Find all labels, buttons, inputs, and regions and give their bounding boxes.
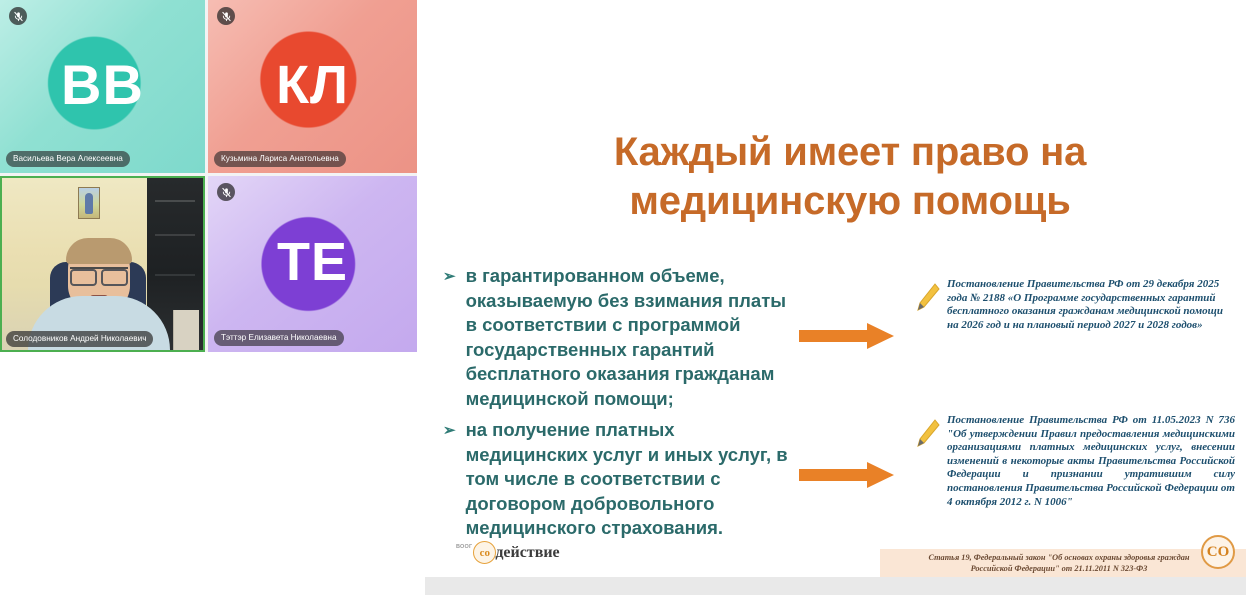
shared-screen-slide[interactable]: Каждый имеет право на медицинскую помощь… — [425, 0, 1246, 595]
logo-wordmark: действие — [495, 544, 559, 562]
participant-name-label: Солодовников Андрей Николаевич — [6, 331, 153, 347]
person-glasses — [70, 267, 128, 280]
screen-root: ВВ Васильева Вера Алексеевна КЛ Кузь — [0, 0, 1246, 595]
pencil-icon — [915, 282, 941, 312]
logo-superscript: ВООГ — [456, 544, 472, 550]
slide-reference-1: Постановление Правительства РФ от 29 дек… — [915, 278, 1235, 332]
slide-footnote: Статья 19, Федеральный закон "Об основах… — [880, 549, 1246, 577]
logo-mark-icon: со — [473, 541, 496, 564]
participant-name-label: Кузьмина Лариса Анатольевна — [214, 151, 346, 167]
slide-reference-1-text: Постановление Правительства РФ от 29 дек… — [947, 278, 1235, 332]
mic-muted-icon — [217, 7, 235, 25]
slide-bottom-strip — [425, 577, 1246, 595]
corner-logo-badge: СО — [1201, 535, 1235, 569]
avatar-initials: КЛ — [208, 57, 417, 111]
video-conference-grid: ВВ Васильева Вера Алексеевна КЛ Кузь — [0, 0, 417, 352]
background-cabinet — [173, 310, 199, 350]
slide-title: Каждый имеет право на медицинскую помощь — [505, 128, 1195, 226]
slide-bullet-2: ➢ на получение платных медицинских услуг… — [443, 418, 803, 541]
slide-bullet-2-text: на получение платных медицинских услуг и… — [466, 418, 788, 541]
slide-reference-2: Постановление Правительства РФ от 11.05.… — [915, 414, 1235, 509]
participant-tile-1[interactable]: ВВ Васильева Вера Алексеевна — [0, 0, 205, 173]
participant-name-label: Васильева Вера Алексеевна — [6, 151, 130, 167]
arrow-right-icon-1 — [799, 323, 894, 349]
participant-tile-4[interactable]: ТЕ Тэттэр Елизавета Николаевна — [208, 176, 417, 352]
avatar-initials: ТЕ — [208, 235, 417, 289]
bullet-marker-icon: ➢ — [443, 264, 456, 411]
bullet-marker-icon: ➢ — [443, 418, 456, 541]
participant-name-label: Тэттэр Елизавета Николаевна — [214, 330, 344, 346]
person-hair — [66, 238, 132, 264]
sodeystvie-logo: ВООГ со действие — [456, 541, 560, 564]
arrow-right-icon-2 — [799, 462, 894, 488]
participant-tile-2[interactable]: КЛ Кузьмина Лариса Анатольевна — [208, 0, 417, 173]
avatar-initials: ВВ — [0, 56, 205, 112]
mic-muted-icon — [217, 183, 235, 201]
slide-bullet-1: ➢ в гарантированном объеме, оказываемую … — [443, 264, 803, 411]
webcam-video-feed — [2, 178, 203, 350]
slide-reference-2-text: Постановление Правительства РФ от 11.05.… — [947, 414, 1235, 509]
background-picture-frame — [78, 187, 100, 219]
pencil-icon — [915, 418, 941, 448]
participant-tile-3-active-speaker[interactable]: Солодовников Андрей Николаевич — [0, 176, 205, 352]
mic-muted-icon — [9, 7, 27, 25]
slide-bullet-1-text: в гарантированном объеме, оказываемую бе… — [466, 264, 786, 411]
